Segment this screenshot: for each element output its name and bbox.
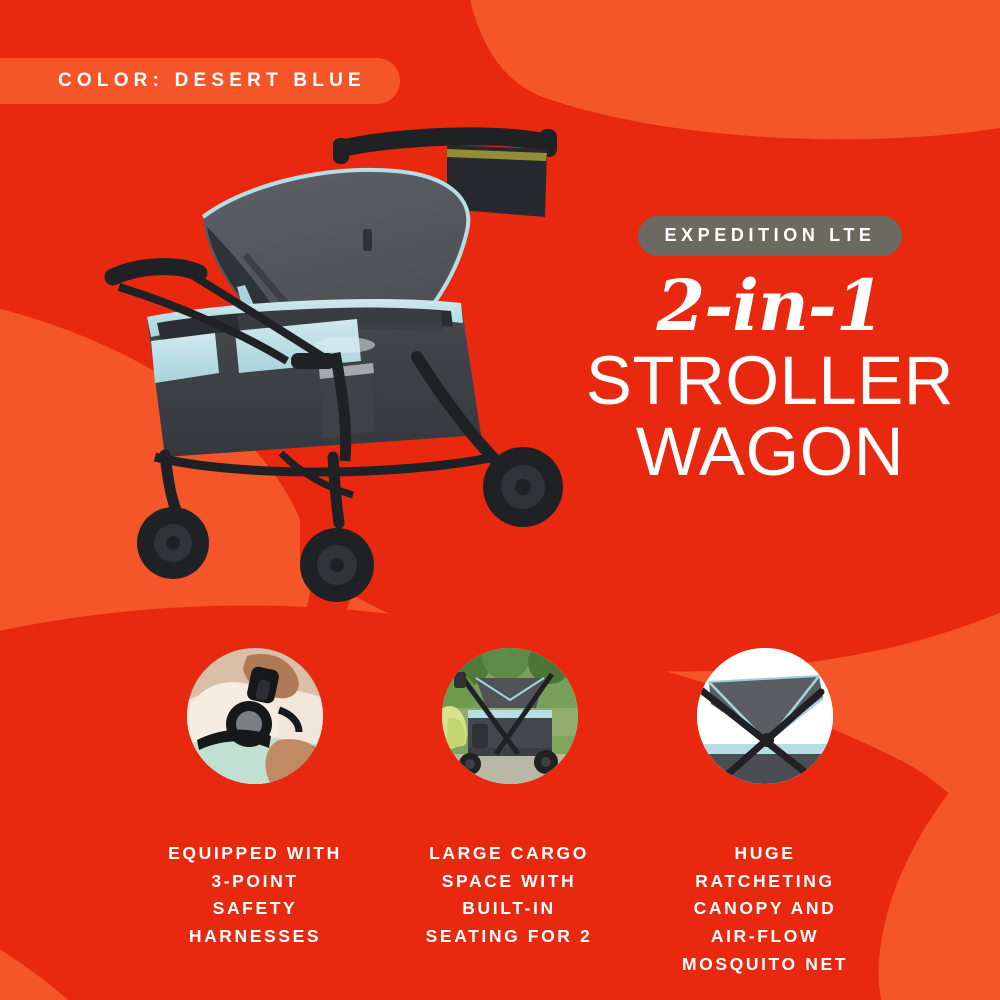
feature-captions: EQUIPPED WITH 3-POINT SAFETY HARNESSES L… [0,840,1000,990]
feature-thumb-cargo [442,648,578,784]
wagon-in-park-photo [442,648,578,784]
caption-line: SEATING FOR 2 [384,923,634,951]
model-badge: EXPEDITION LTE [638,216,901,256]
caption-cargo: LARGE CARGO SPACE WITH BUILT-IN SEATING … [384,840,634,951]
canopy-closeup-photo [697,648,833,784]
wheel-rear [483,447,563,527]
feature-thumb-harness [187,648,323,784]
headline-line-2: WAGON [560,418,980,486]
caption-harness: EQUIPPED WITH 3-POINT SAFETY HARNESSES [130,840,380,951]
caption-line: MOSQUITO NET [640,951,890,979]
caption-line: CANOPY AND [640,895,890,923]
caption-line: LARGE CARGO [384,840,634,868]
wheel-front-right [300,528,374,602]
hero-product-image [95,105,595,625]
caption-line: RATCHETING [640,868,890,896]
headline-script: 2-in-1 [560,270,980,341]
feature-thumbnails [0,648,1000,788]
caption-line: HARNESSES [130,923,380,951]
caption-line: AIR-FLOW [640,923,890,951]
wheel-front-left [137,507,209,579]
feature-thumb-canopy [697,648,833,784]
caption-line: SPACE WITH [384,868,634,896]
harness-buckle-photo [187,648,323,784]
caption-line: BUILT-IN [384,895,634,923]
color-banner-label: COLOR: DESERT BLUE [58,70,366,92]
caption-line: HUGE [640,840,890,868]
headline-block: EXPEDITION LTE 2-in-1 STROLLER WAGON [560,216,980,486]
caption-line: 3-POINT [130,868,380,896]
headline-line-1: STROLLER [560,347,980,415]
product-poster: COLOR: DESERT BLUE [0,0,1000,1000]
stroller-wagon-illustration [95,105,595,625]
color-banner: COLOR: DESERT BLUE [0,58,400,104]
model-badge-label: EXPEDITION LTE [664,225,875,245]
caption-line: EQUIPPED WITH [130,840,380,868]
caption-line: SAFETY [130,895,380,923]
caption-canopy: HUGE RATCHETING CANOPY AND AIR-FLOW MOSQ… [640,840,890,978]
